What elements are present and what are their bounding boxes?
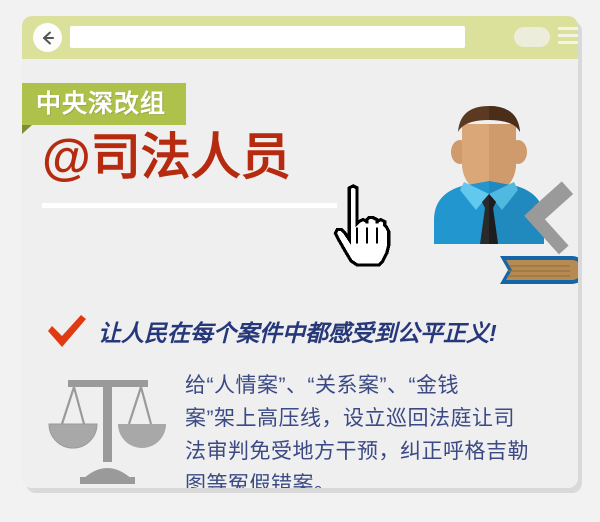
- title-underline: [42, 203, 337, 208]
- poster-content: 中央深改组 @司法人员: [22, 59, 578, 488]
- pointing-hand-cursor-icon: [327, 184, 407, 269]
- slogan-row: 让人民在每个案件中都感受到公平正义!: [46, 314, 497, 353]
- red-checkmark-icon: [46, 314, 88, 353]
- ribbon-label: 中央深改组: [36, 92, 166, 117]
- back-button[interactable]: [33, 23, 62, 52]
- menu-line: [558, 41, 578, 44]
- judge-person-icon: [422, 94, 578, 284]
- menu-line: [558, 34, 578, 37]
- address-input[interactable]: [70, 26, 465, 48]
- body-line: 法审判免受地方干预，纠正呼格吉勒: [185, 435, 573, 468]
- section-ribbon: 中央深改组: [22, 83, 186, 125]
- article-card: 中央深改组 @司法人员: [22, 16, 578, 488]
- body-line: 案”架上高压线，设立巡回法庭让司: [185, 402, 573, 435]
- slogan-text: 让人民在每个案件中都感受到公平正义!: [98, 322, 497, 345]
- hamburger-menu-icon[interactable]: [558, 27, 578, 47]
- menu-line: [558, 27, 578, 30]
- body-line: 图等冤假错案。: [185, 468, 573, 488]
- body-line: 给“人情案”、“关系案”、“金钱: [185, 369, 573, 402]
- toolbar-pill-button[interactable]: [514, 27, 550, 47]
- browser-toolbar: [22, 16, 578, 59]
- back-arrow-icon: [39, 29, 57, 47]
- ribbon-fold-corner: [22, 125, 32, 134]
- body-paragraph: 给“人情案”、“关系案”、“金钱 案”架上高压线，设立巡回法庭让司 法审判免受地…: [185, 369, 573, 488]
- page-title: @司法人员: [42, 132, 291, 182]
- scales-of-justice-icon: [40, 364, 175, 488]
